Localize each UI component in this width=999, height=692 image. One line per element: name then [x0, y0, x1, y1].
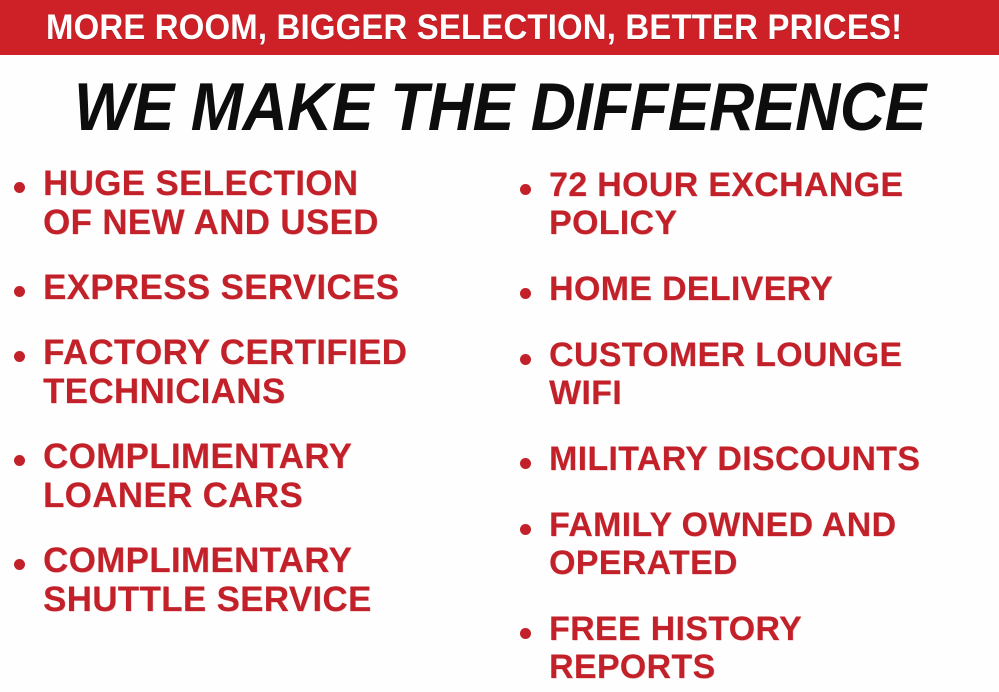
list-item-label: FACTORY CERTIFIED TECHNICIANS: [43, 333, 407, 411]
list-item-label: FREE HISTORY REPORTS: [549, 610, 802, 686]
list-item: HUGE SELECTION OF NEW AND USED: [14, 164, 500, 242]
bullet-dot-icon: [520, 288, 531, 299]
headline-text: WE MAKE THE DIFFERENCE: [74, 72, 926, 142]
list-item-label: FAMILY OWNED AND OPERATED: [549, 506, 896, 582]
top-banner-text: MORE ROOM, BIGGER SELECTION, BETTER PRIC…: [46, 10, 902, 45]
list-item-label: COMPLIMENTARY SHUTTLE SERVICE: [43, 541, 372, 619]
list-item-label: HOME DELIVERY: [549, 270, 833, 308]
bullet-dot-icon: [520, 628, 531, 639]
promotional-poster: MORE ROOM, BIGGER SELECTION, BETTER PRIC…: [0, 0, 999, 692]
bullet-dot-icon: [14, 182, 25, 193]
benefits-column-right: 72 HOUR EXCHANGE POLICY HOME DELIVERY CU…: [500, 158, 999, 692]
list-item: FACTORY CERTIFIED TECHNICIANS: [14, 333, 500, 411]
top-banner: MORE ROOM, BIGGER SELECTION, BETTER PRIC…: [0, 0, 999, 55]
list-item-label: CUSTOMER LOUNGE WIFI: [549, 336, 902, 412]
bullet-dot-icon: [14, 559, 25, 570]
list-item: EXPRESS SERVICES: [14, 268, 500, 307]
headline: WE MAKE THE DIFFERENCE: [0, 72, 999, 142]
list-item: FAMILY OWNED AND OPERATED: [520, 506, 999, 582]
list-item: 72 HOUR EXCHANGE POLICY: [520, 166, 999, 242]
bullet-dot-icon: [14, 455, 25, 466]
list-item: COMPLIMENTARY SHUTTLE SERVICE: [14, 541, 500, 619]
list-item: COMPLIMENTARY LOANER CARS: [14, 437, 500, 515]
bullet-dot-icon: [520, 458, 531, 469]
bullet-dot-icon: [14, 351, 25, 362]
list-item-label: HUGE SELECTION OF NEW AND USED: [43, 164, 379, 242]
list-item-label: 72 HOUR EXCHANGE POLICY: [549, 166, 903, 242]
bullet-dot-icon: [520, 524, 531, 535]
list-item-label: COMPLIMENTARY LOANER CARS: [43, 437, 352, 515]
list-item: MILITARY DISCOUNTS: [520, 440, 999, 478]
list-item: FREE HISTORY REPORTS: [520, 610, 999, 686]
bullet-dot-icon: [14, 286, 25, 297]
benefits-columns: HUGE SELECTION OF NEW AND USED EXPRESS S…: [0, 158, 999, 692]
list-item-label: EXPRESS SERVICES: [43, 268, 399, 307]
bullet-dot-icon: [520, 354, 531, 365]
list-item: HOME DELIVERY: [520, 270, 999, 308]
bullet-dot-icon: [520, 184, 531, 195]
benefits-column-left: HUGE SELECTION OF NEW AND USED EXPRESS S…: [0, 158, 500, 645]
list-item: CUSTOMER LOUNGE WIFI: [520, 336, 999, 412]
list-item-label: MILITARY DISCOUNTS: [549, 440, 920, 478]
